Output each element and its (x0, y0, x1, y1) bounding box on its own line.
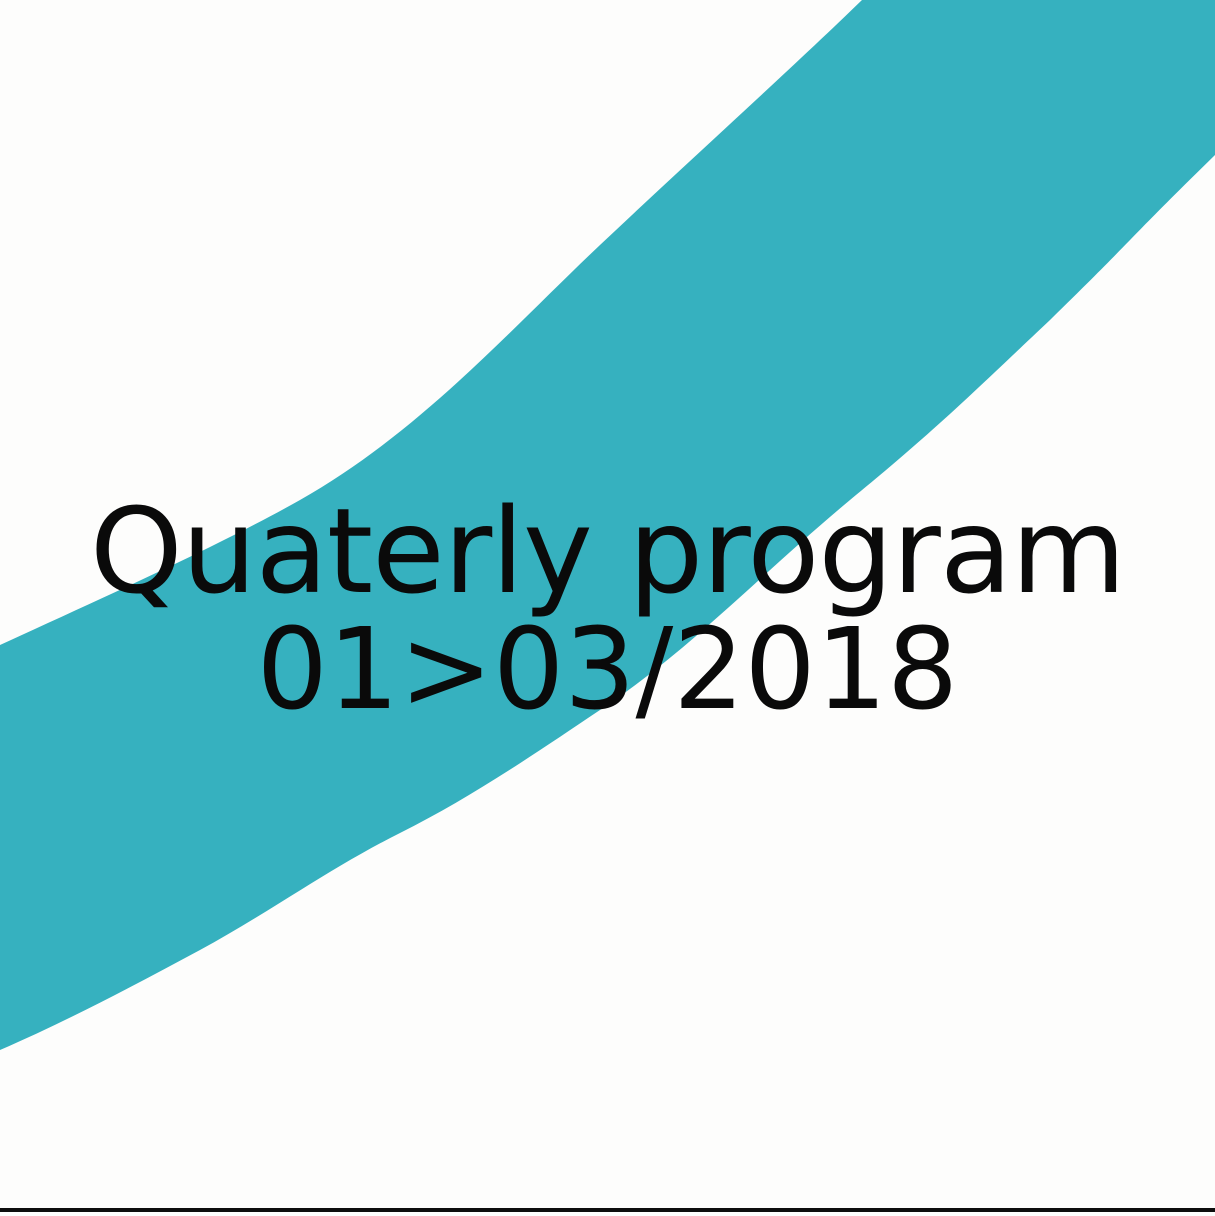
bottom-divider-rule (0, 1208, 1215, 1212)
decorative-teal-band (0, 0, 1215, 1216)
title-slide: Quaterly program 01>03/2018 (0, 0, 1215, 1216)
teal-swoosh-shape (0, 0, 1215, 1050)
